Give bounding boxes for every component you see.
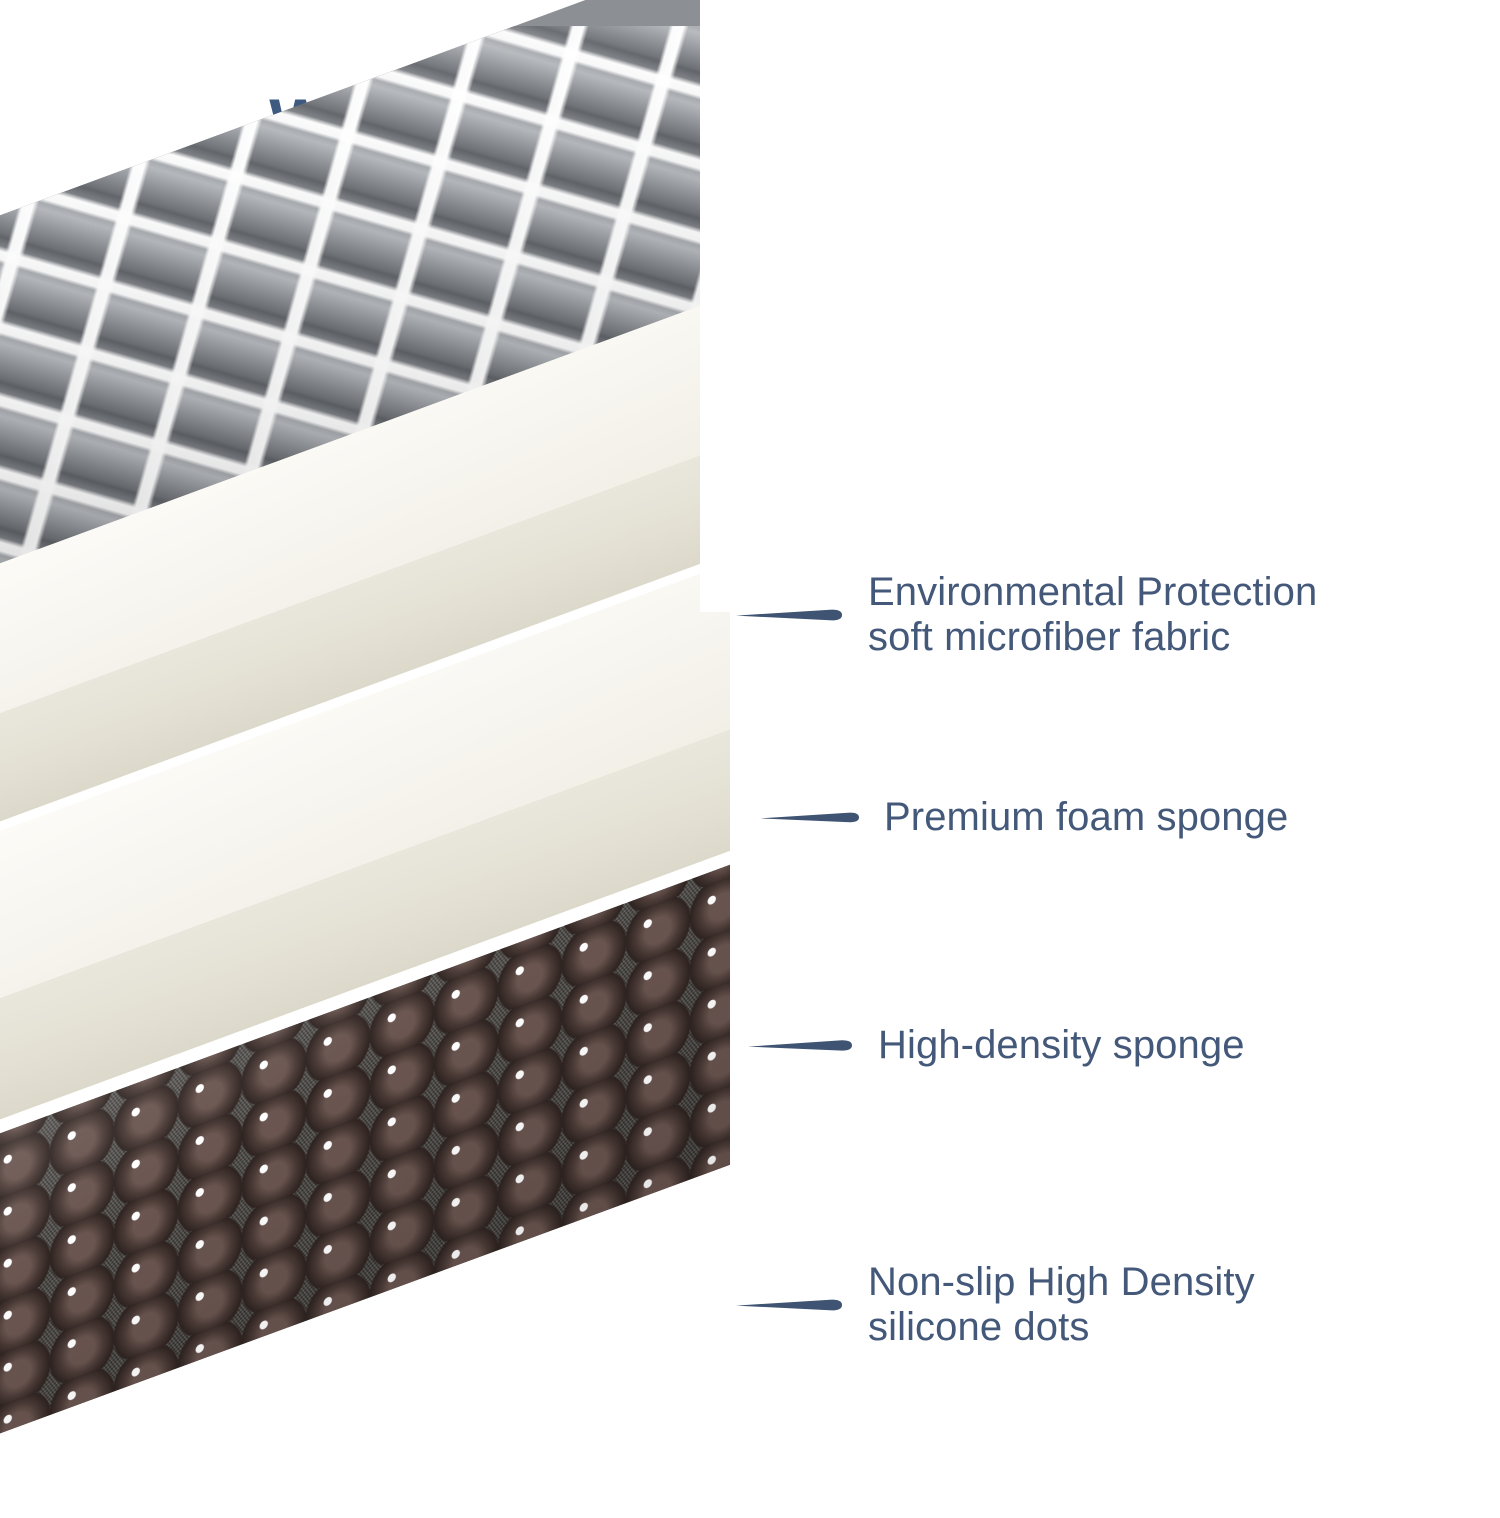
callout-label: Environmental Protection soft microfiber… [868,570,1317,660]
callout-label: Premium foam sponge [884,795,1288,840]
callout-high-density-foam: High-density sponge [748,1010,1468,1080]
leader-line-icon [760,806,864,828]
callout-label: Non-slip High Density silicone dots [868,1260,1255,1350]
leader-line-icon [748,1033,858,1057]
corner-mask [700,0,1500,612]
callout-silicone-dots: Non-slip High Density silicone dots [736,1250,1456,1360]
corner-mask [731,956,1500,1204]
leader-line-icon [736,1292,848,1318]
callout-label: High-density sponge [878,1023,1245,1068]
leader-line-icon [736,602,848,628]
callout-premium-foam: Premium foam sponge [760,782,1480,852]
callout-microfiber-fabric: Environmental Protection soft microfiber… [736,560,1456,670]
